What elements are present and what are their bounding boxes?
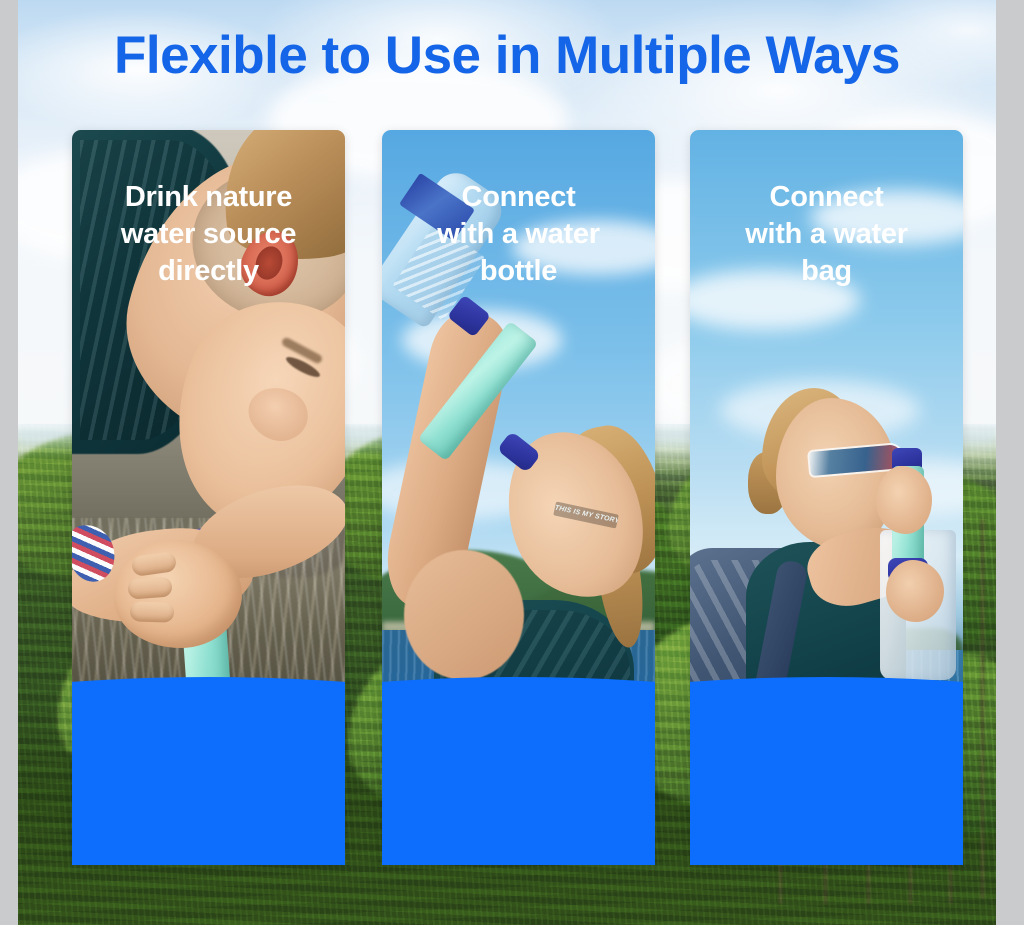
page-title: Flexible to Use in Multiple Ways — [18, 24, 996, 88]
caption-text-water-bag: Connect with a water bag — [690, 130, 963, 318]
feature-panel-water-bottle[interactable]: THIS IS MY STORY Connect with a water bo… — [382, 130, 655, 865]
poster-stage: Flexible to Use in Multiple Ways — [18, 0, 996, 925]
caption-line: with a water — [745, 216, 907, 253]
caption-banner-drink-direct — [72, 677, 345, 865]
caption-line: with a water — [437, 216, 599, 253]
caption-line: bottle — [480, 253, 557, 290]
feature-panel-drink-direct[interactable]: Drink nature water source directly — [72, 130, 345, 865]
caption-banner-water-bottle — [382, 677, 655, 865]
caption-line: water source — [121, 216, 296, 253]
caption-line: Drink nature — [125, 179, 292, 216]
caption-text-water-bottle: Connect with a water bottle — [382, 130, 655, 318]
caption-line: Connect — [462, 179, 576, 216]
caption-banner-water-bag — [690, 677, 963, 865]
image-frame: Flexible to Use in Multiple Ways — [0, 0, 1024, 925]
caption-line: directly — [158, 253, 259, 290]
caption-line: Connect — [770, 179, 884, 216]
caption-line: bag — [801, 253, 852, 290]
caption-text-drink-direct: Drink nature water source directly — [72, 130, 345, 318]
feature-panel-water-bag[interactable]: Connect with a water bag — [690, 130, 963, 865]
